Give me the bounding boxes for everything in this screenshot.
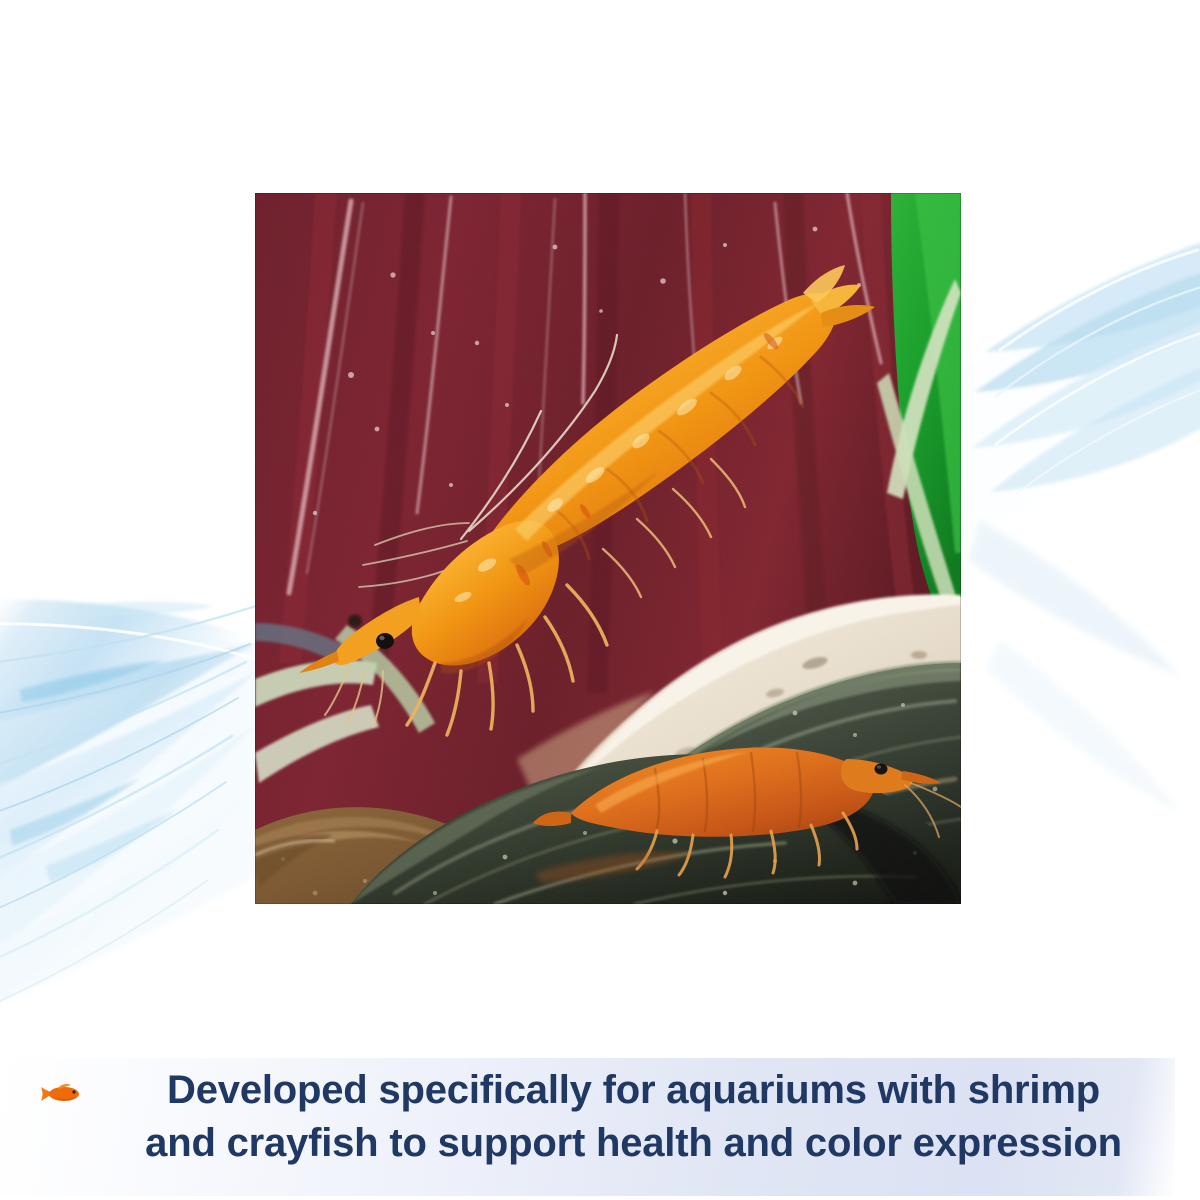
aquarium-shrimp-photo <box>255 193 961 904</box>
slide-canvas: Developed specifically for aquariums wit… <box>0 0 1200 1200</box>
fish-icon <box>40 1080 82 1108</box>
feature-caption-text: Developed specifically for aquariums wit… <box>96 1064 1171 1170</box>
